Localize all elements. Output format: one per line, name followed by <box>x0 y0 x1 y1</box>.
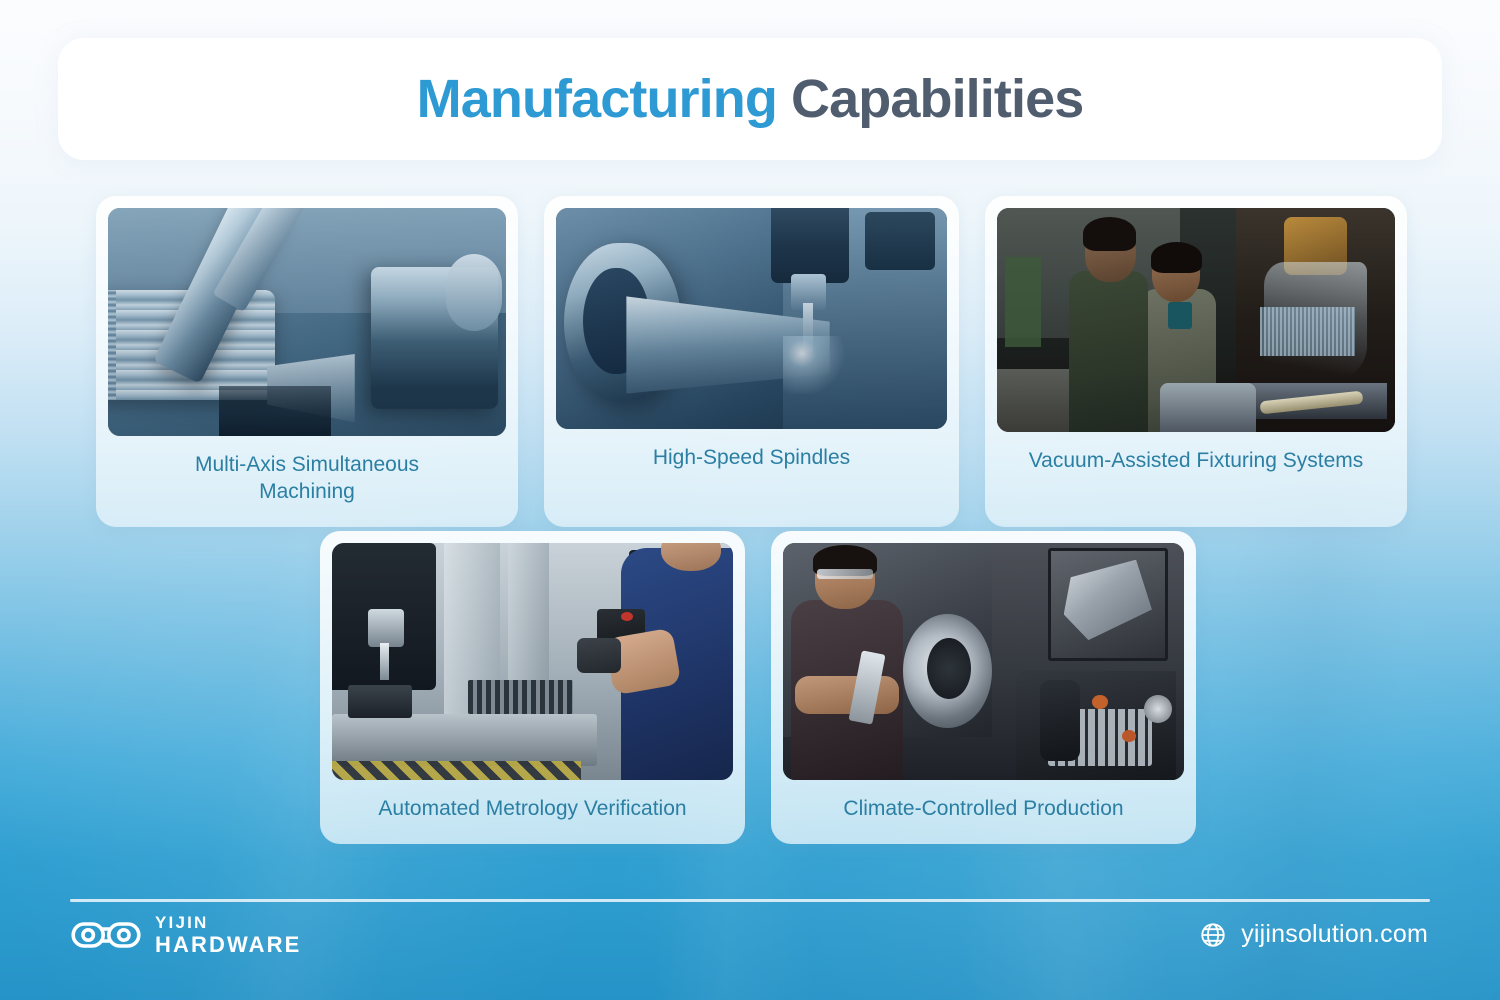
capability-cards-row-top: Multi-Axis Simultaneous Machining High-S… <box>96 196 1407 527</box>
card-label: Automated Metrology Verification <box>372 780 692 836</box>
footer-brand-text: YIJIN HARDWARE <box>155 914 301 956</box>
capability-card[interactable]: Multi-Axis Simultaneous Machining <box>96 196 518 527</box>
capability-cards-row-bottom: Automated Metrology Verification Climate… <box>320 531 1196 844</box>
page-title-primary: Manufacturing <box>417 69 777 129</box>
capability-card[interactable]: Automated Metrology Verification <box>320 531 745 844</box>
infinity-loop-logo-icon <box>70 915 142 955</box>
header-panel: Manufacturing Capabilities <box>58 38 1442 160</box>
page-title: Manufacturing Capabilities <box>417 68 1084 130</box>
card-image-climate-controlled-production <box>783 543 1184 780</box>
card-image-multi-axis-simultaneous-machining <box>108 208 506 436</box>
card-image-automated-metrology-verification <box>332 543 733 780</box>
footer-brand-line1: YIJIN <box>155 914 301 931</box>
globe-icon <box>1199 921 1227 949</box>
card-label: Vacuum-Assisted Fixturing Systems <box>1023 432 1370 488</box>
card-label: Multi-Axis Simultaneous Machining <box>142 436 472 519</box>
card-image-high-speed-spindles <box>556 208 947 429</box>
card-label: Climate-Controlled Production <box>837 780 1129 836</box>
card-image-vacuum-assisted-fixturing-systems <box>997 208 1395 432</box>
footer-website-url[interactable]: yijinsolution.com <box>1241 920 1428 949</box>
page-title-secondary: Capabilities <box>791 69 1083 129</box>
footer-brand: YIJIN HARDWARE <box>70 914 301 956</box>
footer-brand-line2: HARDWARE <box>155 934 301 956</box>
capability-card[interactable]: Vacuum-Assisted Fixturing Systems <box>985 196 1407 527</box>
capability-card[interactable]: High-Speed Spindles <box>544 196 959 527</box>
footer-divider <box>70 899 1430 902</box>
capability-card[interactable]: Climate-Controlled Production <box>771 531 1196 844</box>
footer-website[interactable]: yijinsolution.com <box>1199 920 1428 949</box>
card-label: High-Speed Spindles <box>647 429 856 485</box>
